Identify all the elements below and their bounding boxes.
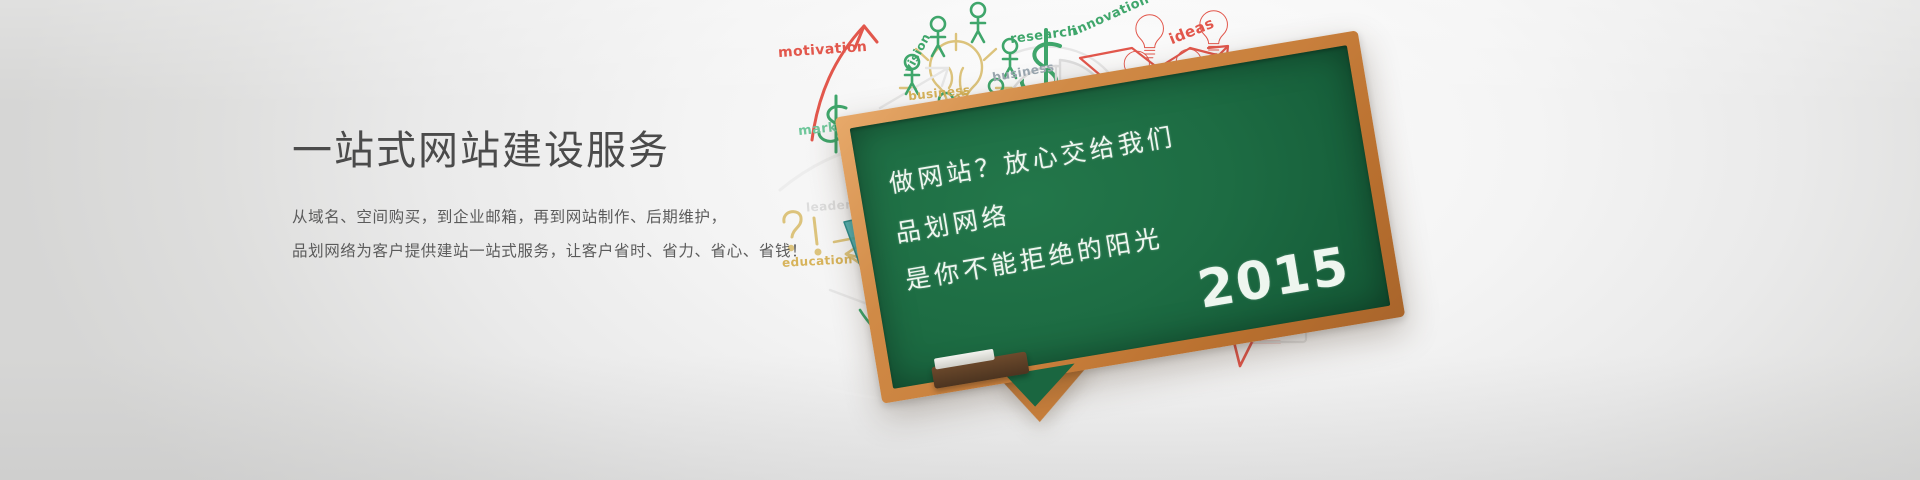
page-title: 一站式网站建设服务 [292,128,912,174]
chalkboard-year: 2015 [1194,236,1355,320]
chalkboard-line-1: 做网站？放心交给我们 [886,117,1178,200]
banner-copy: 一站式网站建设服务 从域名、空间购买，到企业邮箱，再到网站制作、后期维护， 品划… [292,128,912,268]
hero-banner: motivationvisionresearchinnovationideasb… [0,0,1920,480]
subtitle-line-2: 品划网络为客户提供建站一站式服务，让客户省时、省力、省心、省钱！ [292,234,912,268]
subtitle-line-1: 从域名、空间购买，到企业邮箱，再到网站制作、后期维护， [292,200,912,234]
